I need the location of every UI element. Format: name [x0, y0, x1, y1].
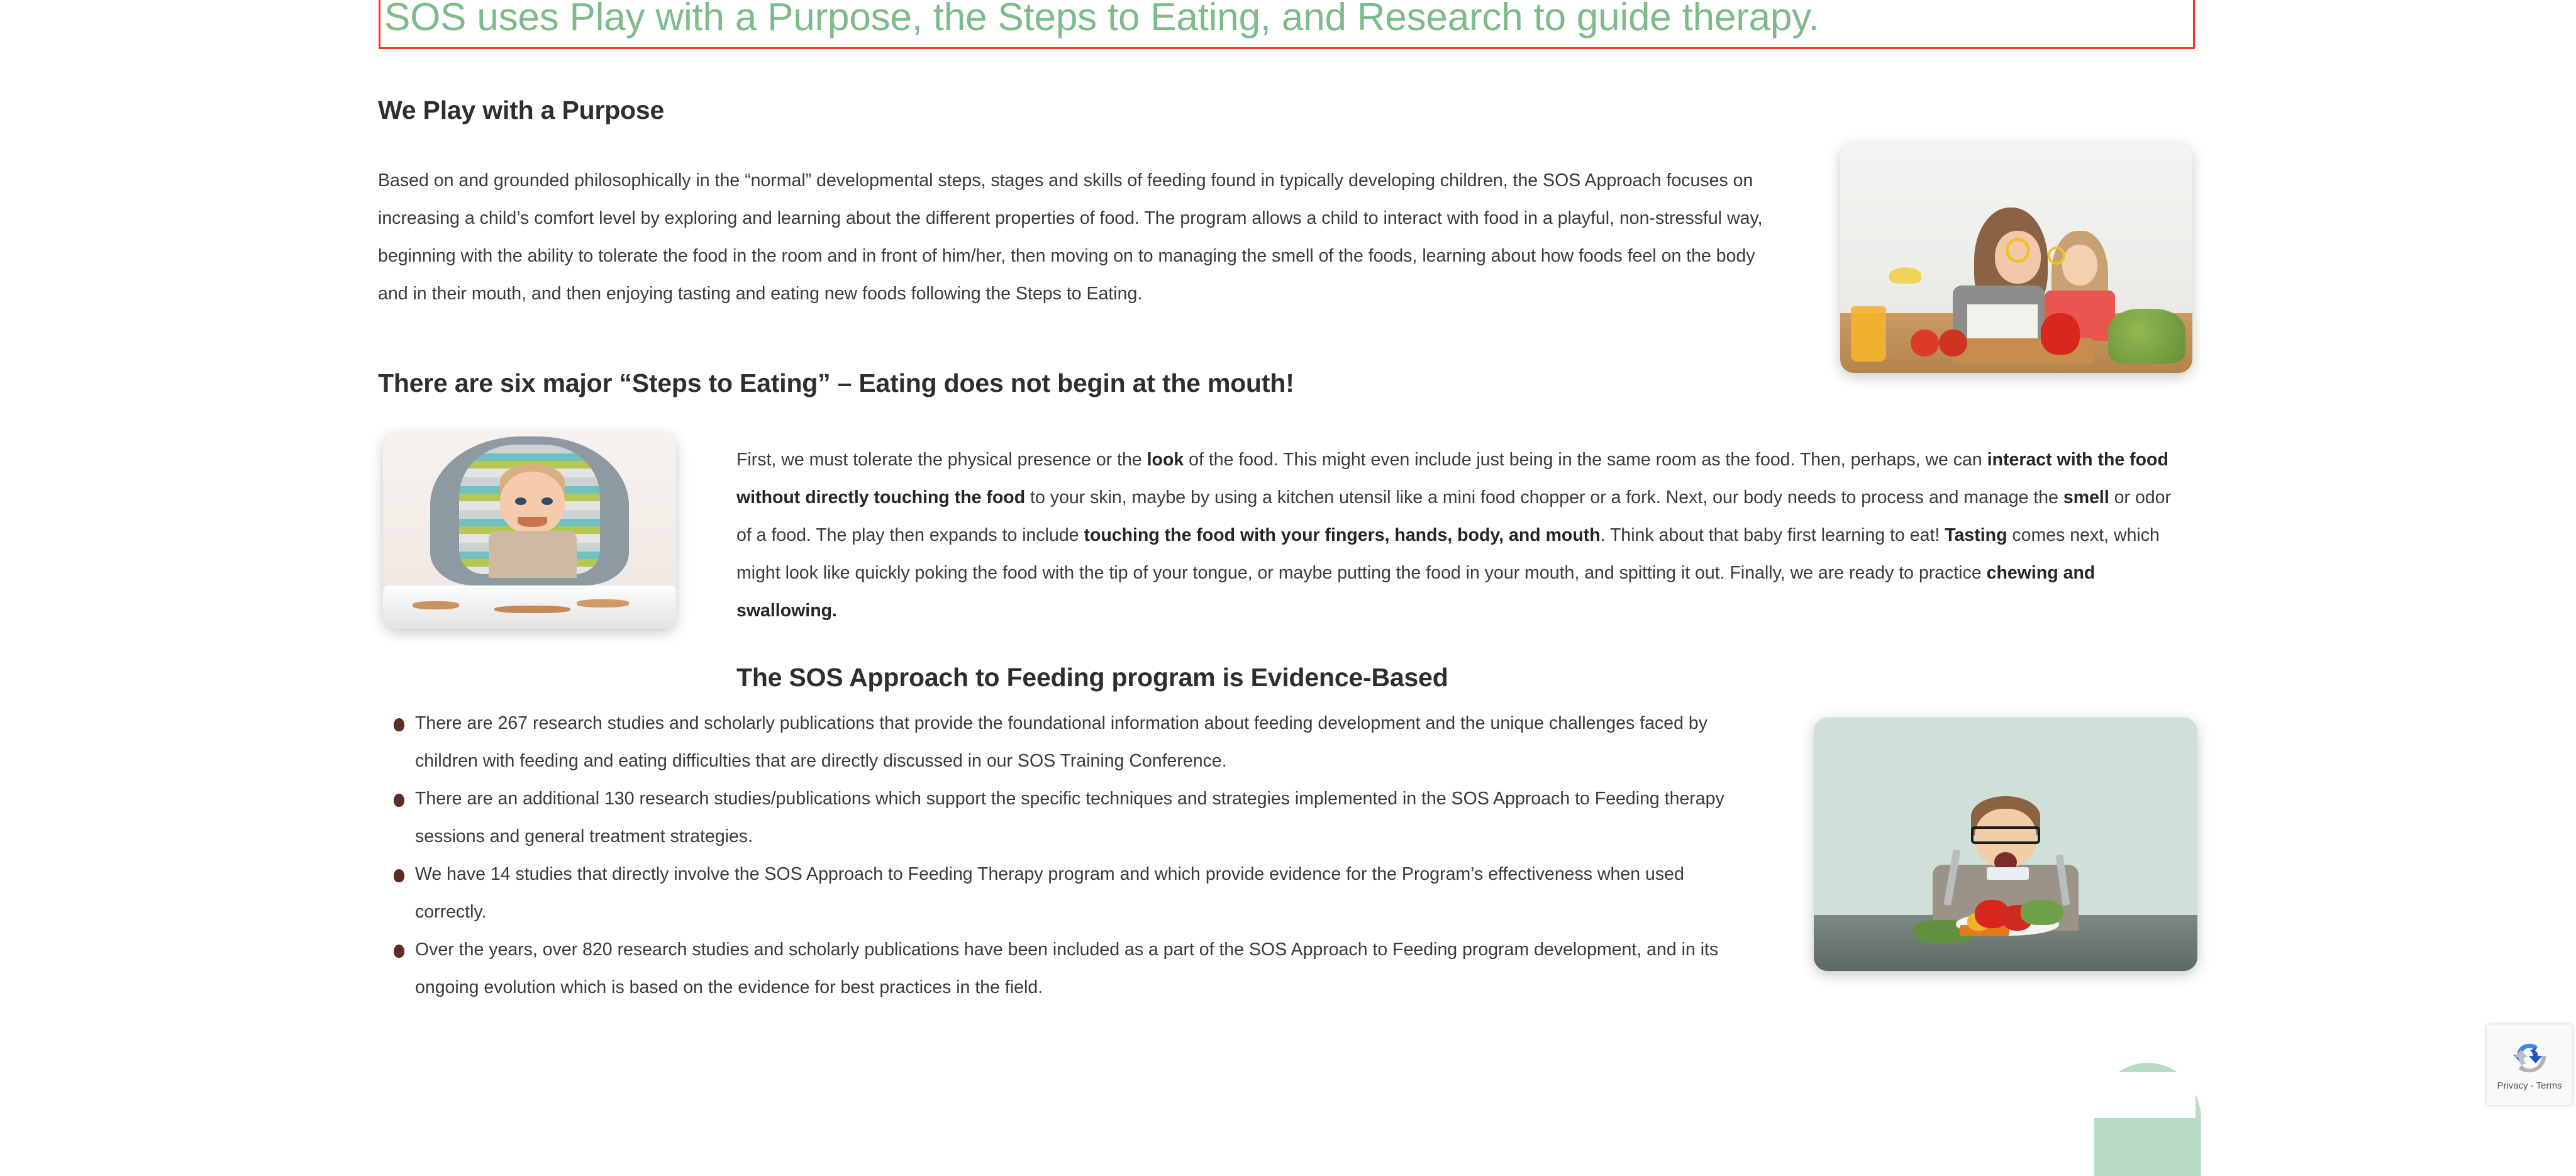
emphasis-term: smell [2063, 487, 2109, 508]
list-item-text: We have 14 studies that directly involve… [415, 864, 1684, 922]
emphasis-term: look [1147, 450, 1184, 470]
list-item: Over the years, over 820 research studie… [390, 931, 1755, 1006]
image-mother-daughter-kitchen [1840, 143, 2192, 373]
bullet-marker-icon [394, 718, 404, 731]
page-title: SOS uses Play with a Purpose, the Steps … [384, 0, 1819, 39]
list-item-text: Over the years, over 820 research studie… [415, 940, 1718, 997]
paragraph-steps-to-eating: First, we must tolerate the physical pre… [736, 441, 2183, 630]
evidence-bullet-list: There are 267 research studies and schol… [390, 704, 1755, 1006]
image-messy-baby-high-chair [383, 433, 676, 629]
image-boy-with-vegetables [1814, 718, 2197, 971]
paragraph-run: to your skin, maybe by using a kitchen u… [1025, 487, 2063, 508]
list-item: There are an additional 130 research stu… [390, 780, 1755, 855]
list-item: We have 14 studies that directly involve… [390, 855, 1755, 931]
emphasis-term: touching the food with your fingers, han… [1084, 525, 1600, 545]
emphasis-term: Tasting [1945, 525, 2007, 545]
paragraph-play-with-purpose: Based on and grounded philosophically in… [378, 162, 1780, 313]
recaptcha-badge[interactable]: Privacy - Terms [2487, 1024, 2572, 1105]
paragraph-run: . Think about that baby first learning t… [1601, 525, 1945, 545]
section-heading-evidence-based: The SOS Approach to Feeding program is E… [736, 663, 1994, 692]
section-heading-steps-to-eating: There are six major “Steps to Eating” – … [378, 369, 2013, 398]
section-heading-play-with-purpose: We Play with a Purpose [378, 96, 1887, 125]
list-item-text: There are an additional 130 research stu… [415, 789, 1724, 846]
page-content: SOS uses Play with a Purpose, the Steps … [0, 0, 2576, 1118]
page-title-banner: SOS uses Play with a Purpose, the Steps … [379, 0, 2195, 49]
bullet-marker-icon [394, 869, 404, 882]
bottom-white-band [378, 1072, 2196, 1118]
bullet-marker-icon [394, 794, 404, 807]
list-item: There are 267 research studies and schol… [390, 704, 1755, 780]
paragraph-run: of the food. This might even include jus… [1184, 450, 1987, 470]
recaptcha-logo-icon [2510, 1039, 2549, 1078]
recaptcha-privacy-terms-text[interactable]: Privacy - Terms [2497, 1080, 2562, 1091]
list-item-text: There are 267 research studies and schol… [415, 713, 1707, 771]
paragraph-run: First, we must tolerate the physical pre… [736, 450, 1147, 470]
bullet-marker-icon [394, 945, 404, 958]
